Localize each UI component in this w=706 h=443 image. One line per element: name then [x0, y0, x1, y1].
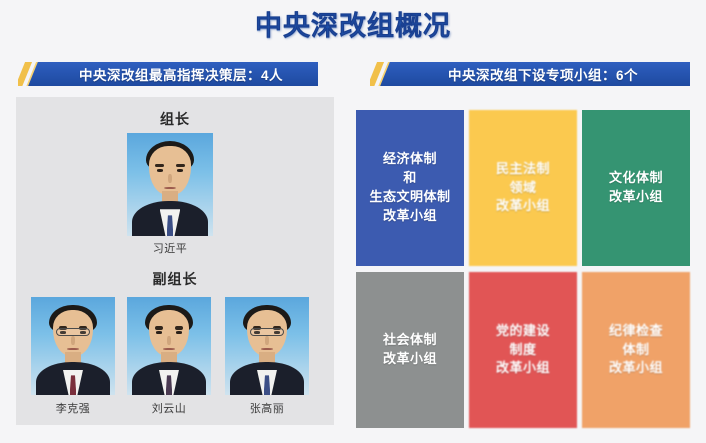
ribbon-header-right: 中央深改组下设专项小组：6个 [370, 62, 690, 86]
ribbon-right-bar: 中央深改组下设专项小组：6个 [396, 62, 690, 86]
group-cell-4[interactable]: 党的建设制度改革小组 [469, 272, 577, 428]
group-cell-3[interactable]: 社会体制改革小组 [356, 272, 464, 428]
group-cell-label: 社会体制改革小组 [383, 331, 437, 369]
group-cell-label: 党的建设制度改革小组 [496, 322, 550, 379]
portrait-deputy-1 [127, 297, 211, 395]
ribbon-right-label: 中央深改组下设专项小组：6个 [448, 64, 638, 84]
group-cell-label: 纪律检查体制改革小组 [609, 322, 663, 379]
portrait-deputy-2 [225, 297, 309, 395]
portrait-face [225, 297, 309, 395]
ribbon-header-left: 中央深改组最高指挥决策层：4人 [18, 62, 318, 86]
group-cell-label: 经济体制和生态文明体制改革小组 [369, 150, 450, 225]
leader-heading: 组长 [16, 109, 334, 129]
ribbon-left-bar: 中央深改组最高指挥决策层：4人 [44, 62, 318, 86]
group-cell-5[interactable]: 纪律检查体制改革小组 [582, 272, 690, 428]
caption-deputy-2: 张高丽 [225, 400, 309, 416]
portrait-face [31, 297, 115, 395]
caption-deputy-1: 刘云山 [127, 400, 211, 416]
group-cell-2[interactable]: 文化体制改革小组 [582, 110, 690, 266]
group-cell-1[interactable]: 民主法制领域改革小组 [469, 110, 577, 266]
special-groups-grid: 经济体制和生态文明体制改革小组民主法制领域改革小组文化体制改革小组社会体制改革小… [356, 110, 690, 428]
infographic-page: 中央深改组概况 中央深改组最高指挥决策层：4人 中央深改组下设专项小组：6个 组… [0, 0, 706, 443]
caption-deputy-0: 李克强 [31, 400, 115, 416]
group-cell-label: 民主法制领域改革小组 [496, 160, 550, 217]
portrait-face [127, 133, 213, 236]
leadership-panel: 组长 习近平 副组长 [16, 97, 334, 425]
portrait-leader [127, 133, 213, 236]
group-cell-label: 文化体制改革小组 [609, 169, 663, 207]
caption-leader: 习近平 [127, 240, 213, 256]
portrait-deputy-0 [31, 297, 115, 395]
group-cell-0[interactable]: 经济体制和生态文明体制改革小组 [356, 110, 464, 266]
page-title: 中央深改组概况 [0, 4, 706, 43]
ribbon-left-label: 中央深改组最高指挥决策层：4人 [79, 64, 283, 84]
deputy-heading: 副组长 [16, 269, 334, 289]
portrait-face [127, 297, 211, 395]
